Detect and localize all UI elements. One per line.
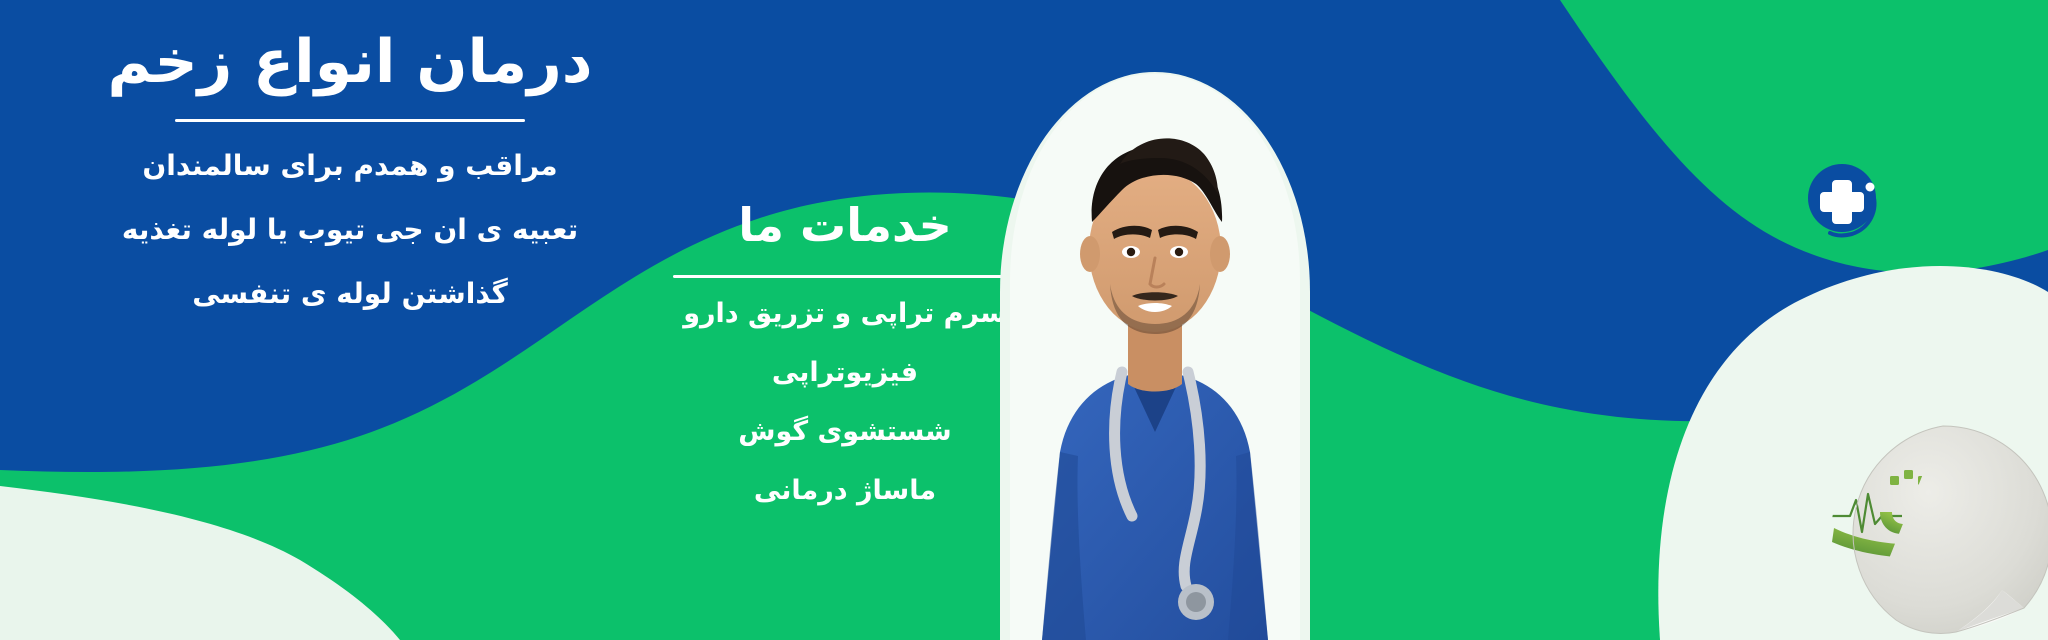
services-divider <box>673 275 1018 278</box>
doctor-ear-right <box>1210 236 1230 272</box>
list-item: شستشوی گوش <box>635 418 1055 445</box>
stethoscope-chestpiece-inner <box>1186 592 1206 612</box>
badge-swoosh-dot <box>1866 183 1875 192</box>
left-text-panel: درمان انواع زخم مراقب و همدم برای سالمند… <box>0 28 700 344</box>
doctor-photo-frame <box>1000 72 1310 640</box>
doctor-portrait <box>1000 72 1310 640</box>
clinic-banner: درمان انواع زخم مراقب و همدم برای سالمند… <box>0 0 2048 640</box>
list-item: ماساژ درمانی <box>635 477 1055 504</box>
sticker-logo-graphic[interactable] <box>1828 420 2048 640</box>
doctor-ear-left <box>1080 236 1100 272</box>
services-list: سرم تراپی و تزریق دارو فیزیوتراپی شستشوی… <box>635 300 1055 504</box>
logo-dot-2 <box>1904 470 1913 479</box>
medical-cross-icon[interactable] <box>1802 160 1886 244</box>
list-item: تعبیه ی ان جی تیوب یا لوله تغذیه <box>0 216 700 244</box>
list-item: مراقب و همدم برای سالمندان <box>0 152 700 180</box>
logo-dot-1 <box>1890 476 1899 485</box>
doctor-pupil-right <box>1175 248 1183 256</box>
services-title: خدمات ما <box>635 200 1055 251</box>
page-title: درمان انواع زخم <box>0 28 700 97</box>
list-item: سرم تراپی و تزریق دارو <box>635 300 1055 327</box>
list-item: فیزیوتراپی <box>635 359 1055 386</box>
left-service-list: مراقب و همدم برای سالمندان تعبیه ی ان جی… <box>0 152 700 308</box>
list-item: گذاشتن لوله ی تنفسی <box>0 280 700 308</box>
title-divider <box>175 119 525 122</box>
doctor-illustration <box>1000 72 1310 640</box>
services-panel: خدمات ما سرم تراپی و تزریق دارو فیزیوترا… <box>635 200 1055 536</box>
doctor-pupil-left <box>1127 248 1135 256</box>
sticker-logo[interactable] <box>1828 420 2048 640</box>
medical-cross-badge[interactable] <box>1802 160 1886 244</box>
